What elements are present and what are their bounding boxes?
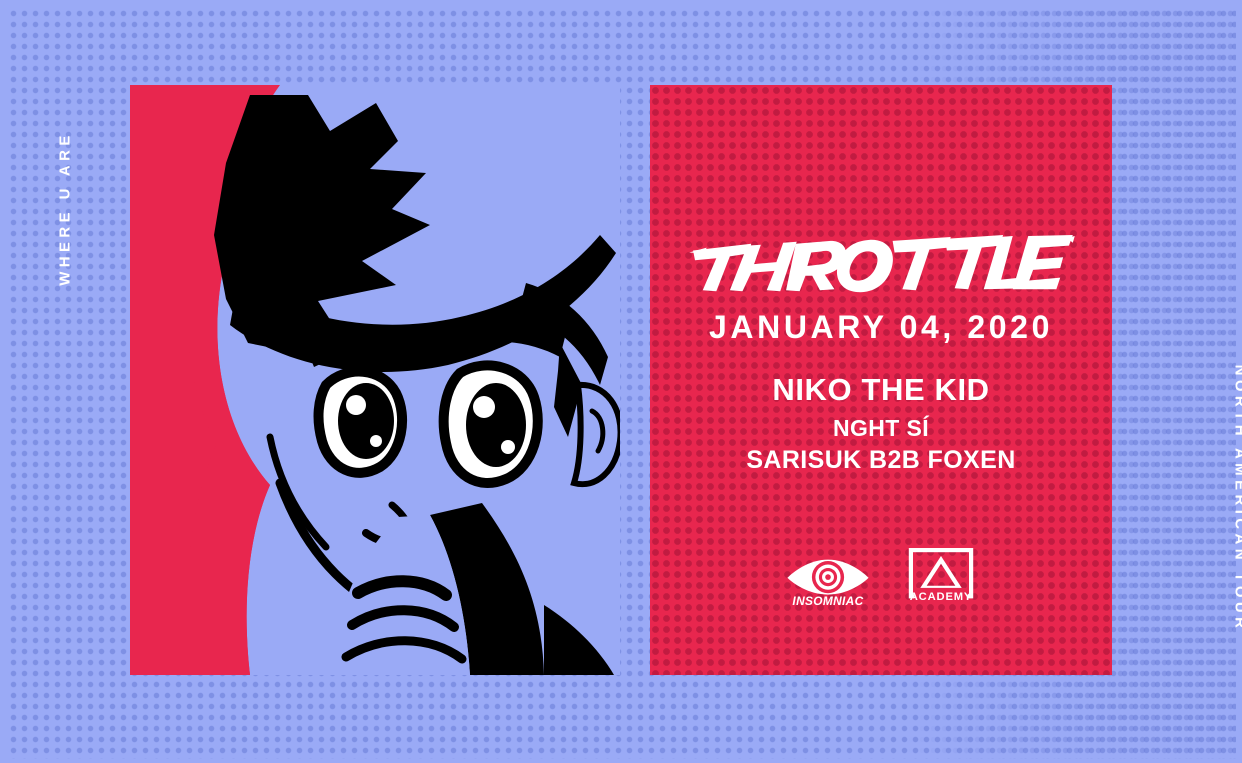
event-date: JANUARY 04, 2020 [709, 309, 1053, 346]
character-illustration [130, 85, 620, 675]
support-artist-1: NGHT SÍ [833, 415, 929, 442]
tour-subtitle-right: NORTH AMERICAN TOUR [1232, 314, 1242, 684]
lineup-panel: JANUARY 04, 2020 NIKO THE KID NGHT SÍ SA… [650, 85, 1112, 675]
character-right-eye [444, 365, 538, 483]
headliner-name: NIKO THE KID [772, 372, 989, 408]
academy-logo-label: ACADEMY [910, 591, 972, 603]
academy-triangle-icon: ACADEMY [906, 548, 976, 607]
throttle-wordmark-art [681, 235, 1081, 297]
throttle-wordmark [681, 235, 1081, 297]
insomniac-eye-icon: INSOMNIAC [786, 554, 870, 607]
logo-row: INSOMNIAC ACADEMY [786, 548, 976, 607]
insomniac-logo-label: INSOMNIAC [792, 594, 863, 607]
event-flyer: WHERE U ARE NORTH AMERICAN TOUR [0, 0, 1242, 763]
tour-subtitle-left: WHERE U ARE [57, 99, 74, 319]
artwork-panel [130, 85, 620, 675]
character-left-eye [319, 372, 403, 473]
academy-logo: ACADEMY [906, 548, 976, 607]
insomniac-logo: INSOMNIAC [786, 554, 870, 607]
support-artist-2: SARISUK B2B FOXEN [746, 446, 1015, 475]
